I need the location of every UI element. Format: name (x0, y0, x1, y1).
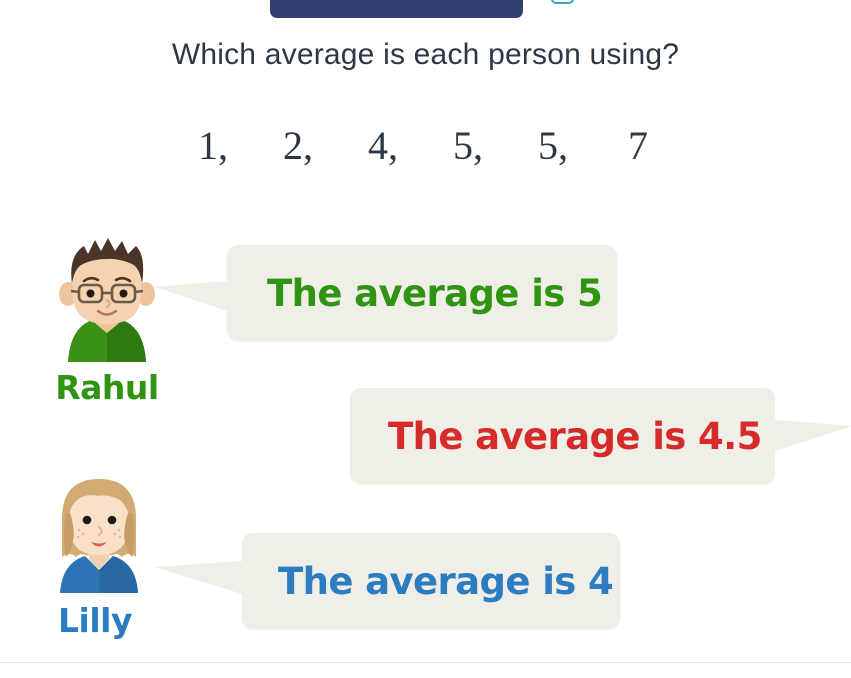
number-item: 4, (341, 122, 426, 169)
question-text: Which average is each person using? (0, 38, 851, 72)
person-rahul: Rahul (48, 232, 166, 362)
number-item: 7 (596, 122, 681, 169)
speech-bubble-tail-left-icon (155, 281, 227, 311)
person-name-rahul: Rahul (27, 368, 187, 407)
speech-bubble-middle: The average is 4.5 (350, 388, 775, 484)
calculator-not-allowed-indicator: not allowed (551, 0, 674, 6)
number-item: 1, (171, 122, 256, 169)
boy-with-glasses-avatar (48, 232, 166, 362)
number-item: 2, (256, 122, 341, 169)
number-item: 5, (511, 122, 596, 169)
speech-bubble-rahul: The average is 5 (227, 245, 617, 341)
speech-bubble-tail-left-icon (154, 561, 242, 594)
speech-bubble-tail-right-icon (775, 420, 851, 451)
speech-bubble-text: The average is 4.5 (388, 415, 762, 458)
person-name-lilly: Lilly (15, 601, 175, 640)
bottom-divider (0, 662, 851, 663)
calculator-not-allowed-icon (551, 0, 581, 6)
person-lilly: Lilly (40, 463, 158, 593)
girl-blonde-avatar (40, 463, 158, 593)
top-toolbar-strip: not allowed (0, 0, 851, 22)
not-allowed-label: not allowed (588, 0, 674, 6)
nav-button[interactable] (270, 0, 523, 18)
speech-bubble-text: The average is 5 (267, 272, 602, 315)
number-sequence: 1,2,4,5,5,7 (0, 122, 851, 169)
speech-bubble-lilly: The average is 4 (242, 533, 620, 629)
number-item: 5, (426, 122, 511, 169)
speech-bubble-text: The average is 4 (278, 560, 613, 603)
